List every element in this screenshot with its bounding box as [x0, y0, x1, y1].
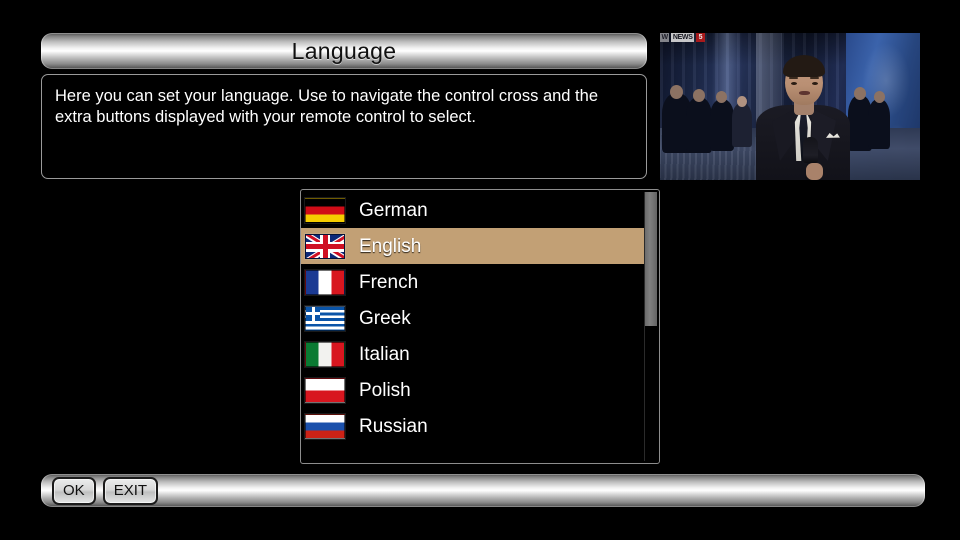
- language-label: Polish: [359, 381, 411, 400]
- list-item[interactable]: German: [301, 192, 644, 228]
- preview-crowd-figure: [710, 99, 734, 151]
- footer-bar: OK EXIT: [41, 474, 925, 507]
- description-panel: Here you can set your language. Use to n…: [41, 74, 647, 179]
- flag-italy-icon: [305, 342, 345, 367]
- scrollbar[interactable]: [644, 192, 657, 461]
- list-item[interactable]: English: [301, 228, 644, 264]
- flag-greece-icon: [305, 306, 345, 331]
- scrollbar-thumb[interactable]: [645, 192, 657, 326]
- preview-crowd-head: [874, 91, 885, 103]
- language-label: Russian: [359, 417, 428, 436]
- preview-microphone: [803, 137, 818, 163]
- preview-crowd-head: [737, 96, 747, 107]
- preview-crowd-figure: [686, 97, 712, 153]
- preview-reporter-hand: [806, 163, 823, 180]
- list-item[interactable]: Polish: [301, 372, 644, 408]
- list-item[interactable]: Greek: [301, 300, 644, 336]
- list-item[interactable]: Russian: [301, 408, 644, 444]
- tv-settings-screen: Language Here you can set your language.…: [0, 0, 960, 540]
- preview-crowd-head: [854, 87, 866, 100]
- preview-reporter-brow: [789, 77, 798, 79]
- channel-logo-bug: W NEWS 5: [660, 33, 920, 42]
- preview-reporter-brow: [810, 77, 819, 79]
- ok-button[interactable]: OK: [52, 477, 96, 505]
- description-text: Here you can set your language. Use to n…: [55, 86, 633, 128]
- page-title-bar: Language: [41, 33, 647, 69]
- preview-crowd-head: [716, 91, 727, 103]
- preview-reporter-eye: [812, 82, 818, 85]
- language-label: French: [359, 273, 418, 292]
- language-label: English: [359, 237, 421, 256]
- channel-bug-prefix: W: [660, 33, 669, 42]
- language-list: German English French: [301, 192, 644, 444]
- language-label: Greek: [359, 309, 411, 328]
- channel-bug-name: NEWS: [671, 33, 694, 42]
- preview-crowd-figure: [868, 99, 890, 149]
- list-item[interactable]: Italian: [301, 336, 644, 372]
- preview-crowd-figure: [732, 103, 752, 147]
- language-label: Italian: [359, 345, 410, 364]
- language-label: German: [359, 201, 428, 220]
- exit-button[interactable]: EXIT: [103, 477, 158, 505]
- page-title: Language: [292, 40, 397, 63]
- language-list-panel[interactable]: German English French: [300, 189, 660, 464]
- list-item[interactable]: French: [301, 264, 644, 300]
- flag-germany-icon: [305, 198, 345, 223]
- preview-crowd-head: [693, 89, 705, 102]
- preview-crowd-head: [670, 85, 683, 99]
- flag-france-icon: [305, 270, 345, 295]
- preview-reporter-eye: [791, 82, 797, 85]
- flag-poland-icon: [305, 378, 345, 403]
- flag-russia-icon: [305, 414, 345, 439]
- live-tv-preview[interactable]: W NEWS 5: [660, 33, 920, 180]
- flag-united-kingdom-icon: [305, 234, 345, 259]
- channel-bug-number: 5: [696, 33, 705, 42]
- preview-reporter-mouth: [799, 91, 810, 95]
